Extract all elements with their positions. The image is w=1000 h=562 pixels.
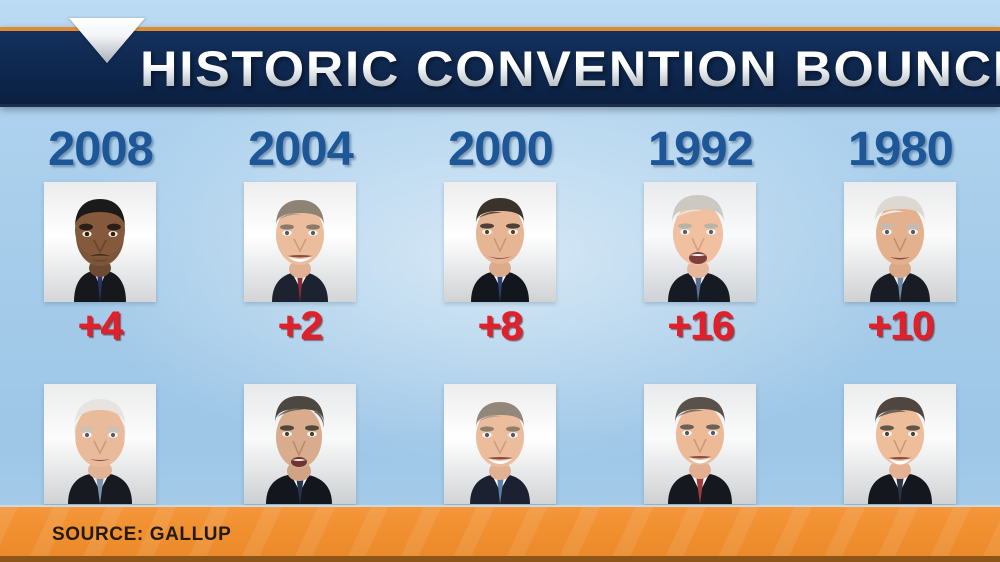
year-label-2008: 2008 bbox=[48, 122, 153, 177]
source-label: SOURCE: GALLUP bbox=[52, 524, 231, 546]
year-cell-1: 2004 bbox=[200, 118, 400, 180]
cell-2000-top: +8 bbox=[400, 182, 600, 346]
gwbush2-portrait bbox=[444, 384, 556, 504]
clinton-portrait bbox=[644, 182, 756, 302]
year-label-1980: 1980 bbox=[848, 122, 953, 177]
year-label-2004: 2004 bbox=[248, 122, 353, 177]
carter-portrait bbox=[844, 182, 956, 302]
title-bar: HISTORIC CONVENTION BOUNCES bbox=[0, 27, 1000, 107]
kerry-portrait bbox=[244, 384, 356, 504]
year-label-2000: 2000 bbox=[448, 122, 553, 177]
year-header-row: 2008 2004 2000 1992 1980 bbox=[0, 118, 1000, 180]
triangle-marker-icon bbox=[68, 18, 146, 70]
cell-1992-top: +16 bbox=[600, 182, 800, 346]
cell-2004-top: +2 bbox=[200, 182, 400, 346]
score-2004-top: +2 bbox=[278, 306, 322, 346]
cell-1980-top: +10 bbox=[800, 182, 1000, 346]
score-2008-top: +4 bbox=[78, 306, 122, 346]
gore-portrait bbox=[444, 182, 556, 302]
candidate-grid: +4 bbox=[0, 182, 1000, 548]
score-2000-top: +8 bbox=[478, 306, 522, 346]
cell-2008-top: +4 bbox=[0, 182, 200, 346]
year-cell-3: 1992 bbox=[600, 118, 800, 180]
reagan-portrait bbox=[844, 384, 956, 504]
news-lower-third-graphic: HISTORIC CONVENTION BOUNCES 2008 2004 20… bbox=[0, 0, 1000, 562]
year-cell-2: 2000 bbox=[400, 118, 600, 180]
page-title: HISTORIC CONVENTION BOUNCES bbox=[140, 40, 1000, 98]
gwbush-portrait bbox=[244, 182, 356, 302]
score-1992-top: +16 bbox=[667, 306, 733, 346]
year-label-1992: 1992 bbox=[648, 122, 753, 177]
score-1980-top: +10 bbox=[867, 306, 933, 346]
mccain-portrait bbox=[44, 384, 156, 504]
year-cell-0: 2008 bbox=[0, 118, 200, 180]
ghwbush-portrait bbox=[644, 384, 756, 504]
obama-portrait bbox=[44, 182, 156, 302]
source-footer-bar: SOURCE: GALLUP bbox=[0, 505, 1000, 562]
year-cell-4: 1980 bbox=[800, 118, 1000, 180]
candidate-row-top: +4 bbox=[0, 182, 1000, 346]
